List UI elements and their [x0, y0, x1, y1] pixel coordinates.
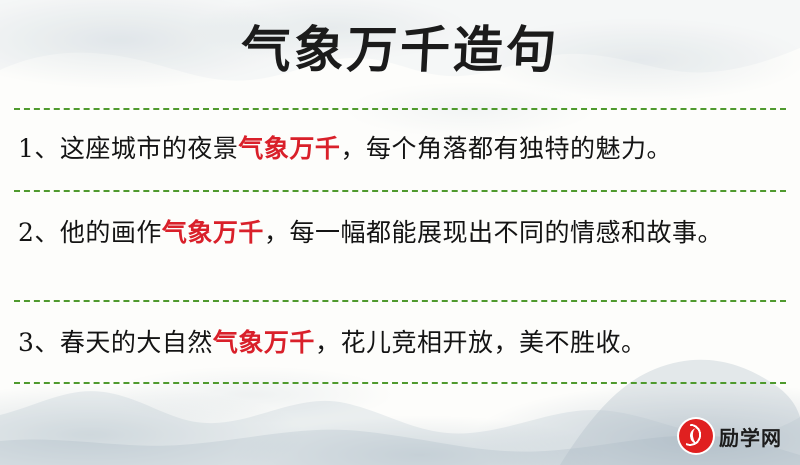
divider-4 — [14, 382, 786, 384]
sentence-text-before-2: 他的画作 — [60, 218, 162, 247]
document-page: 气象万千造句 1、这座城市的夜景气象万千，每个角落都有独特的魅力。 2、他的画作… — [0, 0, 800, 465]
sentence-item-3: 3、春天的大自然气象万千，花儿竞相开放，美不胜收。 — [18, 322, 782, 364]
idiom-highlight-2: 气象万千 — [162, 218, 264, 247]
sentence-index-1: 1、 — [18, 134, 60, 163]
sentence-text-before-3: 春天的大自然 — [60, 328, 213, 357]
idiom-highlight-3: 气象万千 — [213, 328, 315, 357]
idiom-highlight-1: 气象万千 — [238, 134, 340, 163]
swoosh-logo-icon — [679, 419, 713, 453]
sentence-text-after-1: ，每个角落都有独特的魅力。 — [340, 134, 672, 163]
sentence-item-1: 1、这座城市的夜景气象万千，每个角落都有独特的魅力。 — [18, 128, 782, 170]
sentence-text-after-2: ，每一幅都能展现出不同的情感和故事。 — [264, 218, 723, 247]
page-title: 气象万千造句 — [239, 18, 560, 82]
divider-3 — [14, 300, 786, 302]
sentence-index-2: 2、 — [18, 218, 60, 247]
divider-1 — [14, 108, 786, 110]
brand-name: 励学网 — [719, 422, 782, 451]
sentence-text-after-3: ，花儿竞相开放，美不胜收。 — [315, 328, 647, 357]
sentence-index-3: 3、 — [18, 328, 60, 357]
sentence-text-before-1: 这座城市的夜景 — [60, 134, 239, 163]
sentence-item-2: 2、他的画作气象万千，每一幅都能展现出不同的情感和故事。 — [18, 212, 782, 254]
divider-2 — [14, 190, 786, 192]
watermark-logo: 励学网 — [679, 419, 782, 453]
page-title-container: 气象万千造句 — [0, 18, 800, 82]
